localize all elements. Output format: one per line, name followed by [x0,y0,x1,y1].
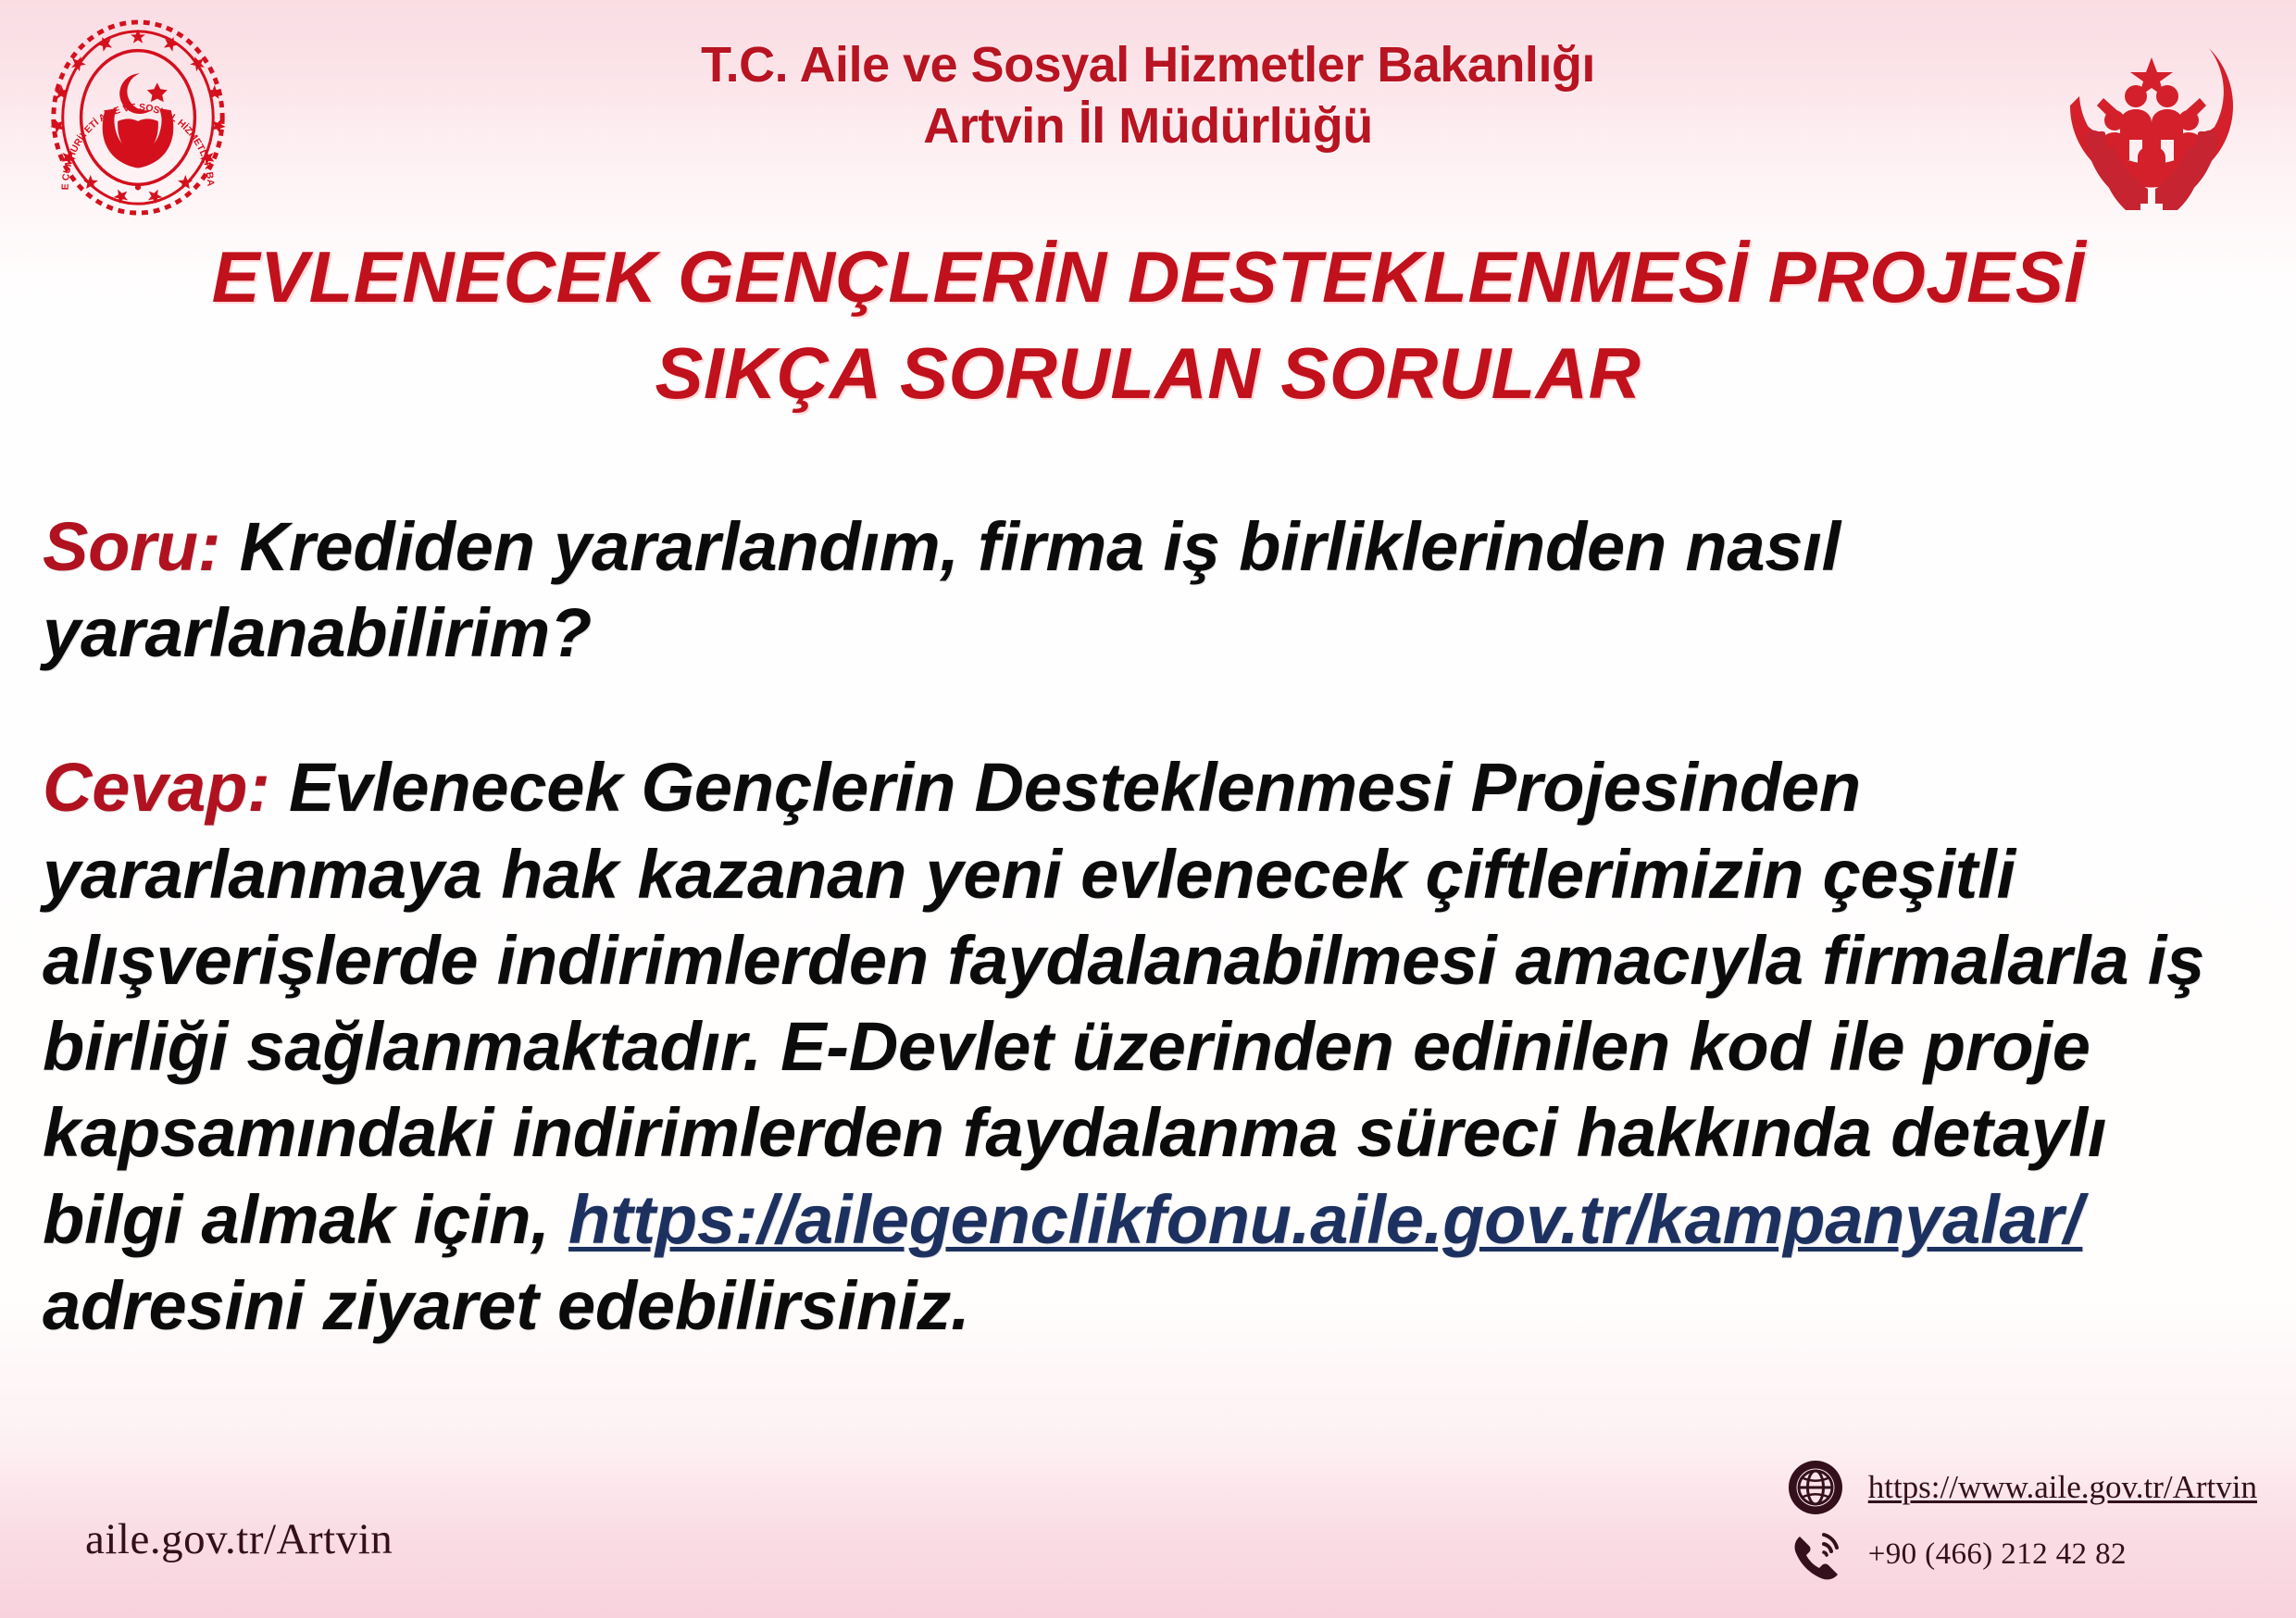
poster-header: TÜRKİYE CUMHURİYETİ AİLE VE SOSYAL HİZME… [0,0,2296,213]
question-text: Krediden yararlandım, firma iş birlikler… [43,508,1841,671]
footer-phone-number[interactable]: +90 (466) 212 42 82 [1868,1537,2127,1572]
poster-footer: aile.gov.tr/Artvin https://www.aile.gov.… [0,1442,2296,1618]
answer-label: Cevap: [43,749,270,826]
contact-row-web[interactable]: https://www.aile.gov.tr/Artvin [1787,1459,2257,1516]
ministry-seal-icon: TÜRKİYE CUMHURİYETİ AİLE VE SOSYAL HİZME… [37,17,239,218]
answer-block: Cevap: Evlenecek Gençlerin Desteklenmesi… [43,744,2259,1349]
footer-site-label: aile.gov.tr/Artvin [85,1514,393,1564]
contact-row-phone[interactable]: +90 (466) 212 42 82 [1787,1525,2257,1583]
poster-root: TÜRKİYE CUMHURİYETİ AİLE VE SOSYAL HİZME… [0,0,2296,1618]
phone-ringing-icon [1787,1525,1844,1583]
footer-contact-block: https://www.aile.gov.tr/Artvin +90 (466)… [1787,1459,2257,1583]
page-title: EVLENECEK GENÇLERİN DESTEKLENMESİ PROJES… [0,230,2296,421]
ministry-title: T.C. Aile ve Sosyal Hizmetler Bakanlığı … [0,35,2296,157]
globe-icon [1787,1459,1844,1516]
page-title-line-2: SIKÇA SORULAN SORULAR [0,326,2296,422]
footer-web-url[interactable]: https://www.aile.gov.tr/Artvin [1868,1469,2257,1506]
faq-content: Soru: Krediden yararlandım, firma iş bir… [43,435,2259,1417]
page-title-line-1: EVLENECEK GENÇLERİN DESTEKLENMESİ PROJES… [0,230,2296,326]
ministry-title-line-1: T.C. Aile ve Sosyal Hizmetler Bakanlığı [0,35,2296,96]
campaign-url-link[interactable]: https://ailegenclikfonu.aile.gov.tr/kamp… [568,1181,2082,1258]
answer-text-after-link: adresini ziyaret edebilirsiniz. [43,1267,969,1344]
question-label: Soru: [43,508,220,585]
family-in-hands-logo-icon [2040,11,2263,210]
ministry-title-line-2: Artvin İl Müdürlüğü [0,96,2296,157]
question-block: Soru: Krediden yararlandım, firma iş bir… [43,504,2259,676]
